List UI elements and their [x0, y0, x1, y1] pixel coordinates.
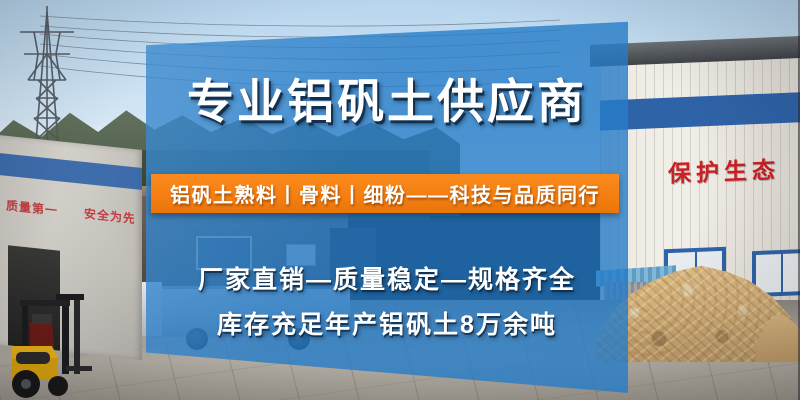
forklift-icon [6, 292, 126, 400]
left-sign-text-2: 安全为先 [84, 204, 134, 226]
banner-subline-1: 厂家直销—质量稳定—规格齐全 [146, 260, 628, 296]
banner-subline-2: 库存充足年产铝矾土8万余吨 [146, 305, 628, 341]
banner-headline: 专业铝矾土供应商 [146, 78, 628, 125]
orange-tagline-bar: 铝矾土熟料丨骨料丨细粉——科技与品质同行 [151, 174, 619, 213]
hero-banner: 保护生态 质量第一 安全为先 [0, 0, 800, 400]
right-building-red-sign: 保护生态 [668, 149, 800, 189]
left-sign-text-1: 质量第一 [6, 196, 58, 218]
orange-tagline-text: 铝矾土熟料丨骨料丨细粉——科技与品质同行 [170, 179, 600, 208]
